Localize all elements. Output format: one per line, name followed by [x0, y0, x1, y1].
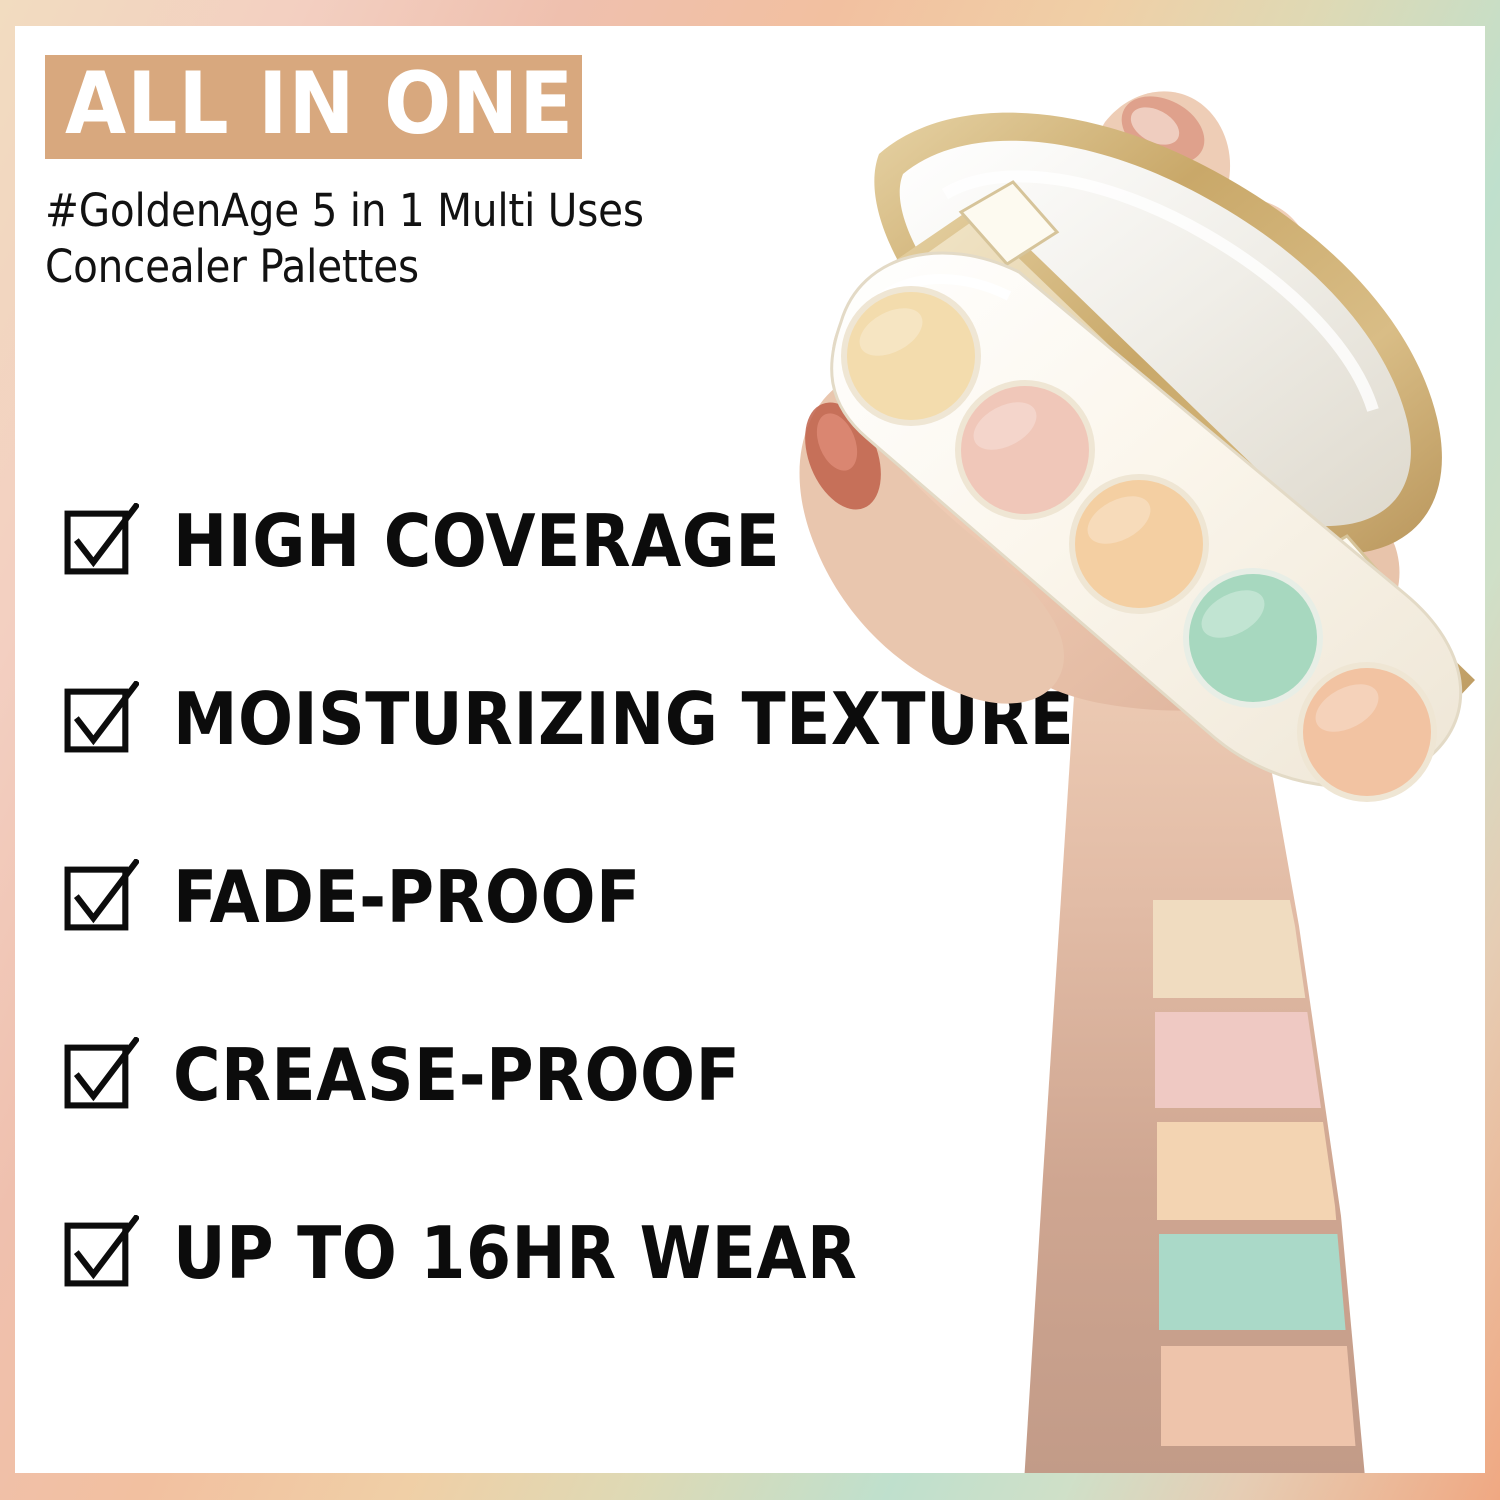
checkbox-checked-icon [63, 1215, 139, 1291]
page-title: ALL IN ONE [65, 61, 574, 149]
feature-label: UP TO 16HR WEAR [173, 1217, 857, 1289]
copy-block: ALL IN ONE #GoldenAge 5 in 1 Multi Uses … [45, 55, 835, 296]
product-photo [775, 26, 1485, 1473]
product-subtitle-line-2: Concealer Palettes [45, 239, 785, 296]
swatch-mint-green [1159, 1234, 1361, 1330]
checkbox-checked-icon [63, 503, 139, 579]
feature-label: HIGH COVERAGE [173, 505, 780, 577]
feature-label: FADE-PROOF [173, 861, 641, 933]
product-subtitle-line-1: #GoldenAge 5 in 1 Multi Uses [45, 183, 785, 240]
checkbox-checked-icon [63, 1037, 139, 1113]
product-infographic: ALL IN ONE #GoldenAge 5 in 1 Multi Uses … [0, 0, 1500, 1500]
swatch-cream-banana [1153, 900, 1349, 998]
swatch-apricot [1161, 1346, 1365, 1446]
headline-banner: ALL IN ONE [45, 55, 582, 159]
checkbox-checked-icon [63, 859, 139, 935]
content-canvas: ALL IN ONE #GoldenAge 5 in 1 Multi Uses … [15, 26, 1485, 1473]
product-subtitle: #GoldenAge 5 in 1 Multi Uses Concealer P… [45, 183, 785, 296]
feature-label: CREASE-PROOF [173, 1039, 740, 1111]
checkbox-checked-icon [63, 681, 139, 757]
swatch-soft-pink [1155, 1012, 1353, 1108]
